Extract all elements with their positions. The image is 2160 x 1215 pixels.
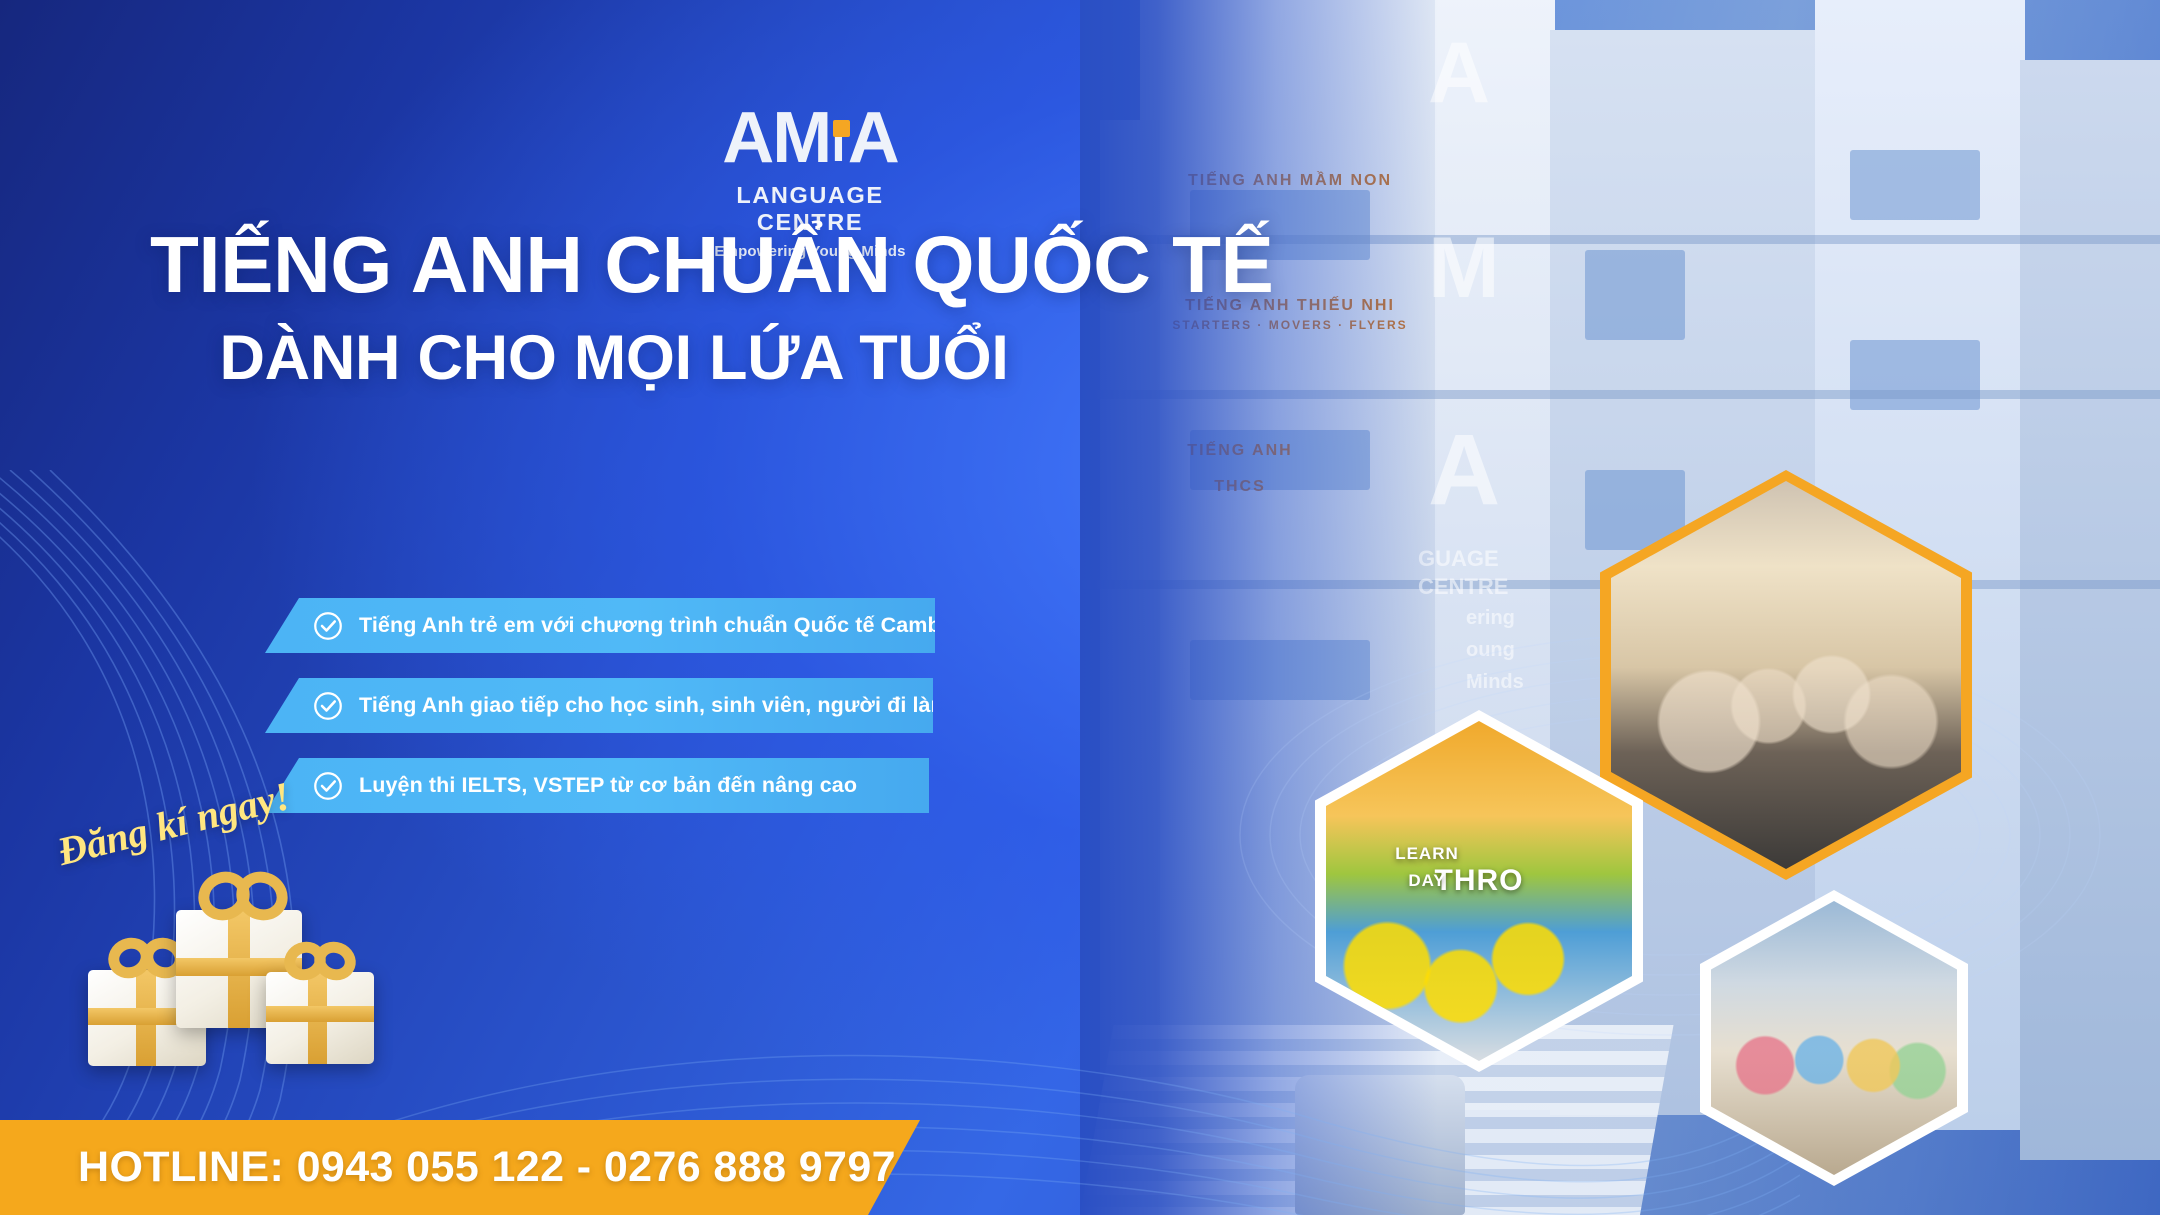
check-circle-icon	[313, 771, 343, 801]
ghost-sub-minds: Minds	[1466, 672, 1524, 692]
headline-line-1: TIẾNG ANH CHUẨN QUỐC TẾ	[150, 225, 1100, 305]
panel-gradient-fade	[1080, 0, 1438, 1215]
hotline-text: HOTLINE: 0943 055 122 - 0276 888 9797	[78, 1143, 896, 1192]
logo-i-dot-icon	[833, 120, 850, 137]
headline-line-2: DÀNH CHO MỌI LỨA TUỔI	[150, 327, 1100, 390]
ghost-sub-ering: ering	[1466, 608, 1515, 628]
promo-banner: TIẾNG ANH MẦM NON TIẾNG ANH THIẾU NHI ST…	[0, 0, 2160, 1215]
ghost-letter-m: M	[1428, 225, 1500, 311]
feature-list: Tiếng Anh trẻ em với chương trình chuẩn …	[265, 598, 935, 838]
feature-label: Tiếng Anh trẻ em với chương trình chuẩn …	[359, 613, 994, 638]
feature-label: Luyện thi IELTS, VSTEP từ cơ bản đến nân…	[359, 773, 857, 798]
ghost-letter-a-bottom: A	[1428, 420, 1500, 520]
gift-boxes-illustration	[80, 880, 380, 1110]
window	[1850, 340, 1980, 410]
check-circle-icon	[313, 691, 343, 721]
photo-kids-classroom: THRO LEARN DAY	[1326, 721, 1632, 1061]
window	[1585, 250, 1685, 340]
photo-kids-group-costume	[1711, 901, 1957, 1175]
logo-letter-a1: A	[722, 107, 770, 170]
feature-item-ielts-vstep[interactable]: Luyện thi IELTS, VSTEP từ cơ bản đến nân…	[265, 758, 929, 813]
check-circle-icon	[313, 611, 343, 641]
feature-item-communication[interactable]: Tiếng Anh giao tiếp cho học sinh, sinh v…	[265, 678, 933, 733]
ghost-sub-young: oung	[1466, 640, 1515, 660]
feature-label: Tiếng Anh giao tiếp cho học sinh, sinh v…	[359, 693, 950, 718]
logo-wordmark: A M i A	[680, 108, 940, 170]
register-now-script-text: Đăng kí ngay!	[53, 772, 295, 875]
logo-letter-m: M	[772, 107, 829, 170]
feature-item-kids-cambridge[interactable]: Tiếng Anh trẻ em với chương trình chuẩn …	[265, 598, 935, 653]
photo-students-meeting-room	[1611, 481, 1961, 869]
window	[1850, 150, 1980, 220]
headline-block: TIẾNG ANH CHUẨN QUỐC TẾ DÀNH CHO MỌI LỨA…	[150, 225, 1100, 390]
building-block	[2020, 60, 2160, 1160]
logo-letter-a2: A	[848, 107, 898, 170]
hotline-bar[interactable]: HOTLINE: 0943 055 122 - 0276 888 9797	[0, 1120, 920, 1215]
